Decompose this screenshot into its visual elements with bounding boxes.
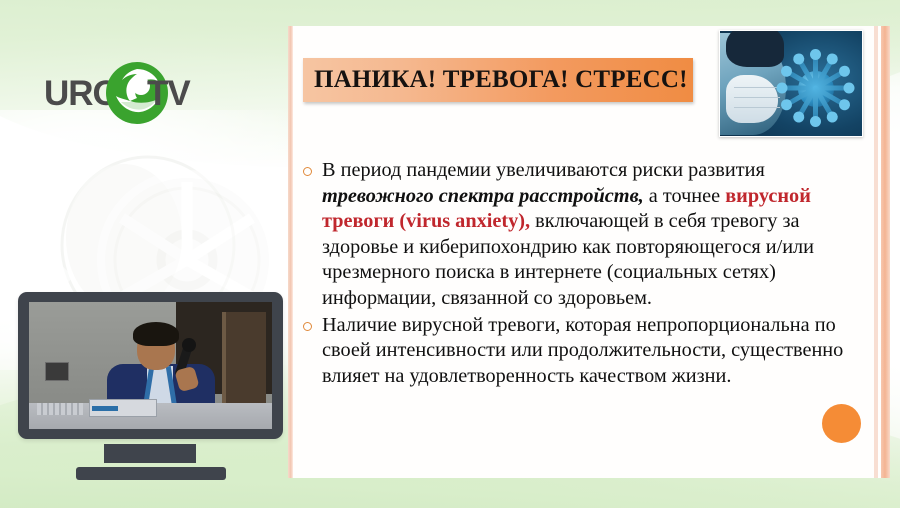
- video-speaker-hair: [133, 322, 179, 346]
- video-keyboard: [37, 403, 83, 415]
- panel-border-right-inner: [874, 26, 878, 478]
- bullet-item: В период пандемии увеличиваются риски ра…: [303, 158, 869, 312]
- photo-virus-particle: [772, 45, 858, 131]
- monitor-screen[interactable]: [29, 302, 272, 429]
- slide-title-banner: ПАНИКА! ТРЕВОГА! СТРЕСС!: [303, 58, 693, 102]
- text-segment: Наличие вирусной тревоги, которая непроп…: [322, 314, 843, 387]
- coronavirus-mask-photo: [719, 30, 863, 137]
- panel-border-right-outer: [881, 26, 890, 478]
- orange-circle-decoration: [822, 404, 861, 443]
- video-wall-box: [45, 362, 69, 381]
- text-segment: а точнее: [644, 185, 725, 207]
- bullet-text: Наличие вирусной тревоги, которая непроп…: [322, 313, 869, 390]
- circle-outline-bullet-icon: [303, 158, 322, 176]
- brand-logo[interactable]: URO TV: [44, 58, 234, 126]
- slide-title: ПАНИКА! ТРЕВОГА! СТРЕСС!: [303, 66, 688, 94]
- video-microphone-head: [182, 338, 196, 352]
- slide-body-text: В период пандемии увеличиваются риски ра…: [303, 158, 869, 390]
- monitor-video-player[interactable]: [18, 292, 283, 477]
- text-segment: В период пандемии увеличиваются риски ра…: [322, 159, 765, 181]
- bullet-text: В период пандемии увеличиваются риски ра…: [322, 158, 869, 312]
- brand-name-right: TV: [147, 74, 190, 114]
- monitor-stand-base: [76, 467, 226, 480]
- panel-border-left: [288, 26, 293, 478]
- monitor-stand-neck: [104, 444, 196, 463]
- monitor-frame: [18, 292, 283, 439]
- photo-face-mask: [726, 75, 778, 123]
- text-segment: тревожного спектра расстройств,: [322, 185, 644, 207]
- bullet-item: Наличие вирусной тревоги, которая непроп…: [303, 313, 869, 390]
- slide-canvas: URO TV: [0, 0, 900, 508]
- video-laptop-label: [92, 406, 118, 411]
- circle-outline-bullet-icon: [303, 313, 322, 331]
